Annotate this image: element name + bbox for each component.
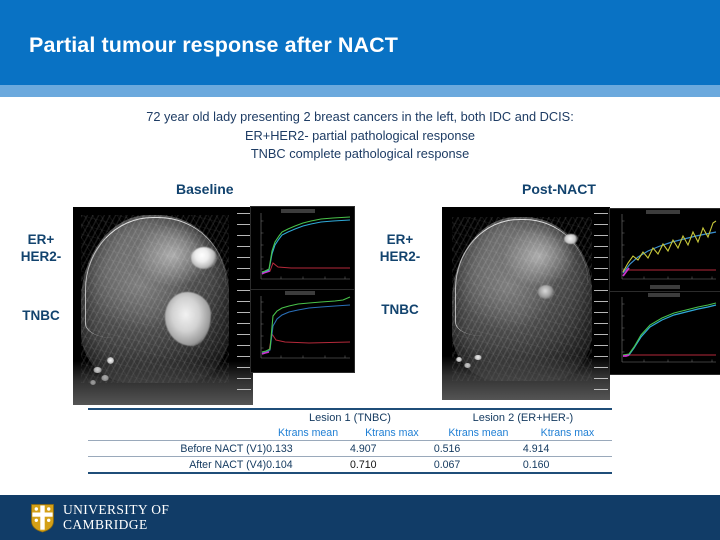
residual-enhancement-post-nact: [538, 285, 554, 299]
ktrans-table-container: Lesion 1 (TNBC) Lesion 2 (ER+HER-) Ktran…: [88, 408, 612, 474]
kinetic-curve-post-er-her2: [609, 208, 720, 293]
cell-after-l1-max: 0.710: [350, 457, 434, 472]
title-accent-bar: [0, 85, 720, 97]
cell-before-l1-max: 4.907: [350, 441, 434, 456]
table-sub-header-row: Ktrans mean Ktrans max Ktrans mean Ktran…: [88, 425, 612, 440]
cell-after-l1-mean: 0.104: [266, 457, 350, 472]
page-title: Partial tumour response after NACT: [29, 33, 398, 58]
ktrans-table-body-2: After NACT (V4) 0.104 0.710 0.067 0.160: [88, 457, 612, 472]
table-rule-bottom: [88, 472, 612, 474]
kinetic-curve-baseline-tnbc: [250, 206, 355, 290]
sub-header-l2-ktrans-max: Ktrans max: [523, 425, 612, 440]
row-label-after-nact: After NACT (V4): [88, 457, 266, 472]
cell-before-l2-mean: 0.516: [434, 441, 523, 456]
sub-header-l2-ktrans-mean: Ktrans mean: [434, 425, 523, 440]
table-group-header-row: Lesion 1 (TNBC) Lesion 2 (ER+HER-): [88, 410, 612, 425]
sub-header-l1-ktrans-mean: Ktrans mean: [266, 425, 350, 440]
group-header-lesion-1: Lesion 1 (TNBC): [266, 410, 434, 425]
row-label-before-nact: Before NACT (V1): [88, 441, 266, 456]
ktrans-table-body: Before NACT (V1) 0.133 4.907 0.516 4.914: [88, 441, 612, 456]
cell-before-l2-max: 4.914: [523, 441, 612, 456]
mri-image-baseline: [73, 207, 253, 405]
label-baseline-tnbc: TNBC: [10, 307, 72, 324]
cell-before-l1-mean: 0.133: [266, 441, 350, 456]
label-baseline-er-her2: ER+ HER2-: [10, 231, 72, 265]
cell-after-l2-mean: 0.067: [434, 457, 523, 472]
group-header-lesion-2: Lesion 2 (ER+HER-): [434, 410, 612, 425]
label-post-er-line1: ER+: [387, 232, 414, 247]
kinetic-curve-svg: [610, 292, 720, 374]
dicom-ruler: [237, 213, 251, 399]
subtitle-block: 72 year old lady presenting 2 breast can…: [0, 108, 720, 164]
chest-wall-region: [442, 356, 610, 400]
column-header-baseline: Baseline: [176, 181, 234, 197]
label-post-er-line2: HER2-: [380, 249, 421, 264]
nipple-enhancement: [564, 234, 578, 244]
dicom-ruler: [594, 213, 608, 394]
cambridge-crest-icon: [30, 503, 55, 533]
table-row: After NACT (V4) 0.104 0.710 0.067 0.160: [88, 457, 612, 472]
kinetic-curve-post-tnbc: [609, 291, 720, 375]
mri-image-post-nact: [442, 207, 610, 400]
cell-after-l2-max: 0.160: [523, 457, 612, 472]
subtitle-line-2: ER+HER2- partial pathological response: [0, 127, 720, 146]
lesion-er-her2-baseline: [191, 247, 217, 269]
university-wordmark: UNIVERSITY OF CAMBRIDGE: [63, 503, 169, 532]
label-baseline-er-line1: ER+: [28, 232, 55, 247]
sub-header-l1-ktrans-max: Ktrans max: [350, 425, 434, 440]
table-row: Before NACT (V1) 0.133 4.907 0.516 4.914: [88, 441, 612, 456]
label-post-tnbc: TNBC: [369, 301, 431, 318]
university-line-2: CAMBRIDGE: [63, 518, 169, 533]
kinetic-curve-svg: [251, 207, 354, 289]
kinetic-curve-baseline-er-her2: [250, 289, 355, 373]
subtitle-line-3: TNBC complete pathological response: [0, 145, 720, 164]
university-line-1: UNIVERSITY OF: [63, 503, 169, 518]
label-post-er-her2: ER+ HER2-: [369, 231, 431, 265]
kinetic-curve-svg: [610, 209, 720, 292]
column-header-post-nact: Post-NACT: [522, 181, 596, 197]
kinetic-curve-svg: [251, 290, 354, 372]
ktrans-table: Lesion 1 (TNBC) Lesion 2 (ER+HER-) Ktran…: [88, 410, 612, 440]
label-baseline-er-line2: HER2-: [21, 249, 62, 264]
subtitle-line-1: 72 year old lady presenting 2 breast can…: [0, 108, 720, 127]
chest-wall-region: [73, 361, 253, 405]
